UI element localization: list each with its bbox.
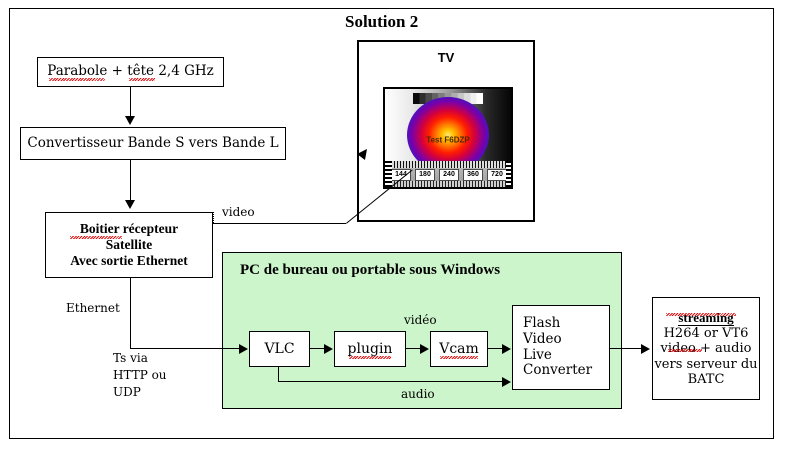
node-flash-line2: Video <box>523 332 562 348</box>
tv-left-film-strip <box>385 161 392 187</box>
edge-video-dotted-stub <box>213 212 214 223</box>
node-parabole: Parabole + tête 2,4 GHz <box>37 57 224 87</box>
node-plugin: plugin <box>334 331 406 367</box>
tv-resolution-bar: 144 180 240 360 720 <box>385 161 511 187</box>
arrowhead-right <box>502 377 511 387</box>
edge-video-horizontal <box>213 223 346 224</box>
diagram-canvas: Solution 2 TV Test F6DZP 144 180 240 360… <box>0 0 785 449</box>
node-convertisseur: Convertisseur Bande S vers Bande L <box>20 127 286 160</box>
arrowhead-right <box>641 344 650 354</box>
node-flash-video-live-converter: Flash Video Live Converter <box>512 305 610 390</box>
pc-panel-title: PC de bureau ou portable sous Windows <box>240 262 500 279</box>
tv-box: TV Test F6DZP 144 180 240 360 720 <box>357 40 535 222</box>
spellcheck-underline <box>70 236 122 239</box>
node-boitier: Boitier récepteur Satellite Avec sortie … <box>45 212 213 278</box>
edge-parabole-to-convertisseur <box>130 87 131 118</box>
edge-label-audio-inner: audio <box>401 387 435 402</box>
tv-right-film-strip <box>506 161 511 187</box>
node-vlc-label: VLC <box>264 341 294 358</box>
page-title: Solution 2 <box>345 12 418 32</box>
node-flash-line3: Live <box>523 348 552 364</box>
spellcheck-underline <box>129 78 155 81</box>
spellcheck-underline <box>666 313 736 316</box>
node-vcam-label: Vcam <box>439 341 479 358</box>
tv-blob-text: Test F6DZP <box>426 135 469 144</box>
tv-screen: Test F6DZP 144 180 240 360 720 <box>383 87 513 189</box>
edge-label-ts-line2: HTTP ou <box>113 368 167 383</box>
tv-resolution-cells: 144 180 240 360 720 <box>391 168 507 181</box>
arrowhead-down <box>125 116 135 125</box>
node-flash-line1: Flash <box>523 316 560 332</box>
node-convertisseur-label: Convertisseur Bande S vers Bande L <box>27 136 278 152</box>
edge-flash-to-streaming <box>610 348 645 349</box>
tv-resolution-cell: 240 <box>439 169 459 181</box>
arrowhead-down <box>125 200 135 209</box>
edge-label-video-inner: vidéo <box>404 313 437 328</box>
node-streaming-line4: vers serveur du <box>654 357 757 372</box>
node-flash-line4: Converter <box>523 363 592 379</box>
edge-audio-horizontal <box>278 381 505 382</box>
edge-audio-vertical <box>278 367 279 382</box>
edge-ethernet-vertical <box>130 278 131 349</box>
edge-label-ethernet: Ethernet <box>66 301 120 316</box>
tv-tick-strip-bottom <box>385 181 511 187</box>
arrowhead-right <box>502 344 511 354</box>
arrowhead-right <box>239 344 248 354</box>
edge-ethernet-horizontal <box>130 348 242 349</box>
arrowhead-right <box>420 344 429 354</box>
node-vlc: VLC <box>249 331 310 367</box>
node-streaming-line2: H264 or VT6 <box>664 326 749 341</box>
node-plugin-label: plugin <box>348 341 393 358</box>
spellcheck-underline <box>49 78 105 81</box>
tv-label: TV <box>359 50 533 65</box>
node-boitier-line2: Satellite <box>106 237 153 253</box>
tv-resolution-cell: 360 <box>463 169 483 181</box>
node-vcam: Vcam <box>430 331 488 367</box>
edge-label-ts-line3: UDP <box>113 385 141 400</box>
edge-convertisseur-to-boitier <box>130 160 131 202</box>
node-boitier-line1: Boitier récepteur <box>80 221 178 237</box>
arrowhead-right <box>324 344 333 354</box>
edge-label-video-top: video <box>222 205 255 220</box>
edge-label-ts-line1: Ts via <box>113 351 148 366</box>
tv-tick-strip-top <box>385 161 511 168</box>
spellcheck-underline <box>349 356 391 359</box>
tv-resolution-cell: 720 <box>487 169 507 181</box>
tv-resolution-cell: 180 <box>415 169 435 181</box>
spellcheck-underline <box>440 356 478 359</box>
node-boitier-line3: Avec sortie Ethernet <box>70 253 187 269</box>
node-streaming-line5: BATC <box>688 372 725 387</box>
spellcheck-underline <box>668 349 702 352</box>
